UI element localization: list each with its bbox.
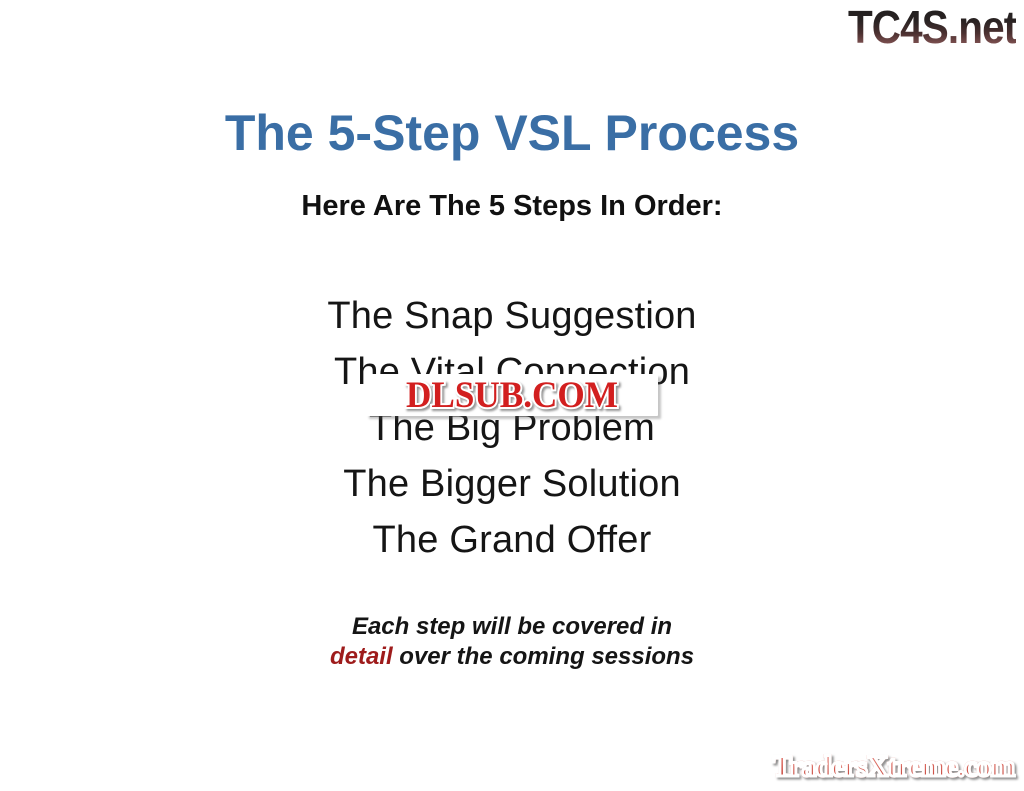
tc4s-brand-logo: TC4S.net	[848, 2, 1016, 52]
subtitle: Here Are The 5 Steps In Order:	[0, 188, 1024, 224]
tradersxtreme-watermark: TradersXtreme.com	[772, 749, 1014, 785]
page-title: The 5-Step VSL Process	[0, 104, 1024, 162]
step-item-1: The Snap Suggestion	[0, 288, 1024, 344]
dlsub-watermark: DLSUB.COM	[400, 374, 623, 419]
slide-canvas: TC4S.net The 5-Step VSL Process Here Are…	[0, 0, 1024, 791]
footnote: Each step will be covered in detail over…	[0, 612, 1024, 672]
step-item-5: The Grand Offer	[0, 512, 1024, 568]
step-item-4: The Bigger Solution	[0, 456, 1024, 512]
steps-list: The Snap Suggestion The Vital Connection…	[0, 288, 1024, 568]
footnote-line-2: detail over the coming sessions	[0, 642, 1024, 672]
footnote-line-2-rest: over the coming sessions	[393, 643, 694, 670]
footnote-emphasis-detail: detail	[330, 643, 393, 670]
footnote-line-1: Each step will be covered in	[0, 612, 1024, 642]
